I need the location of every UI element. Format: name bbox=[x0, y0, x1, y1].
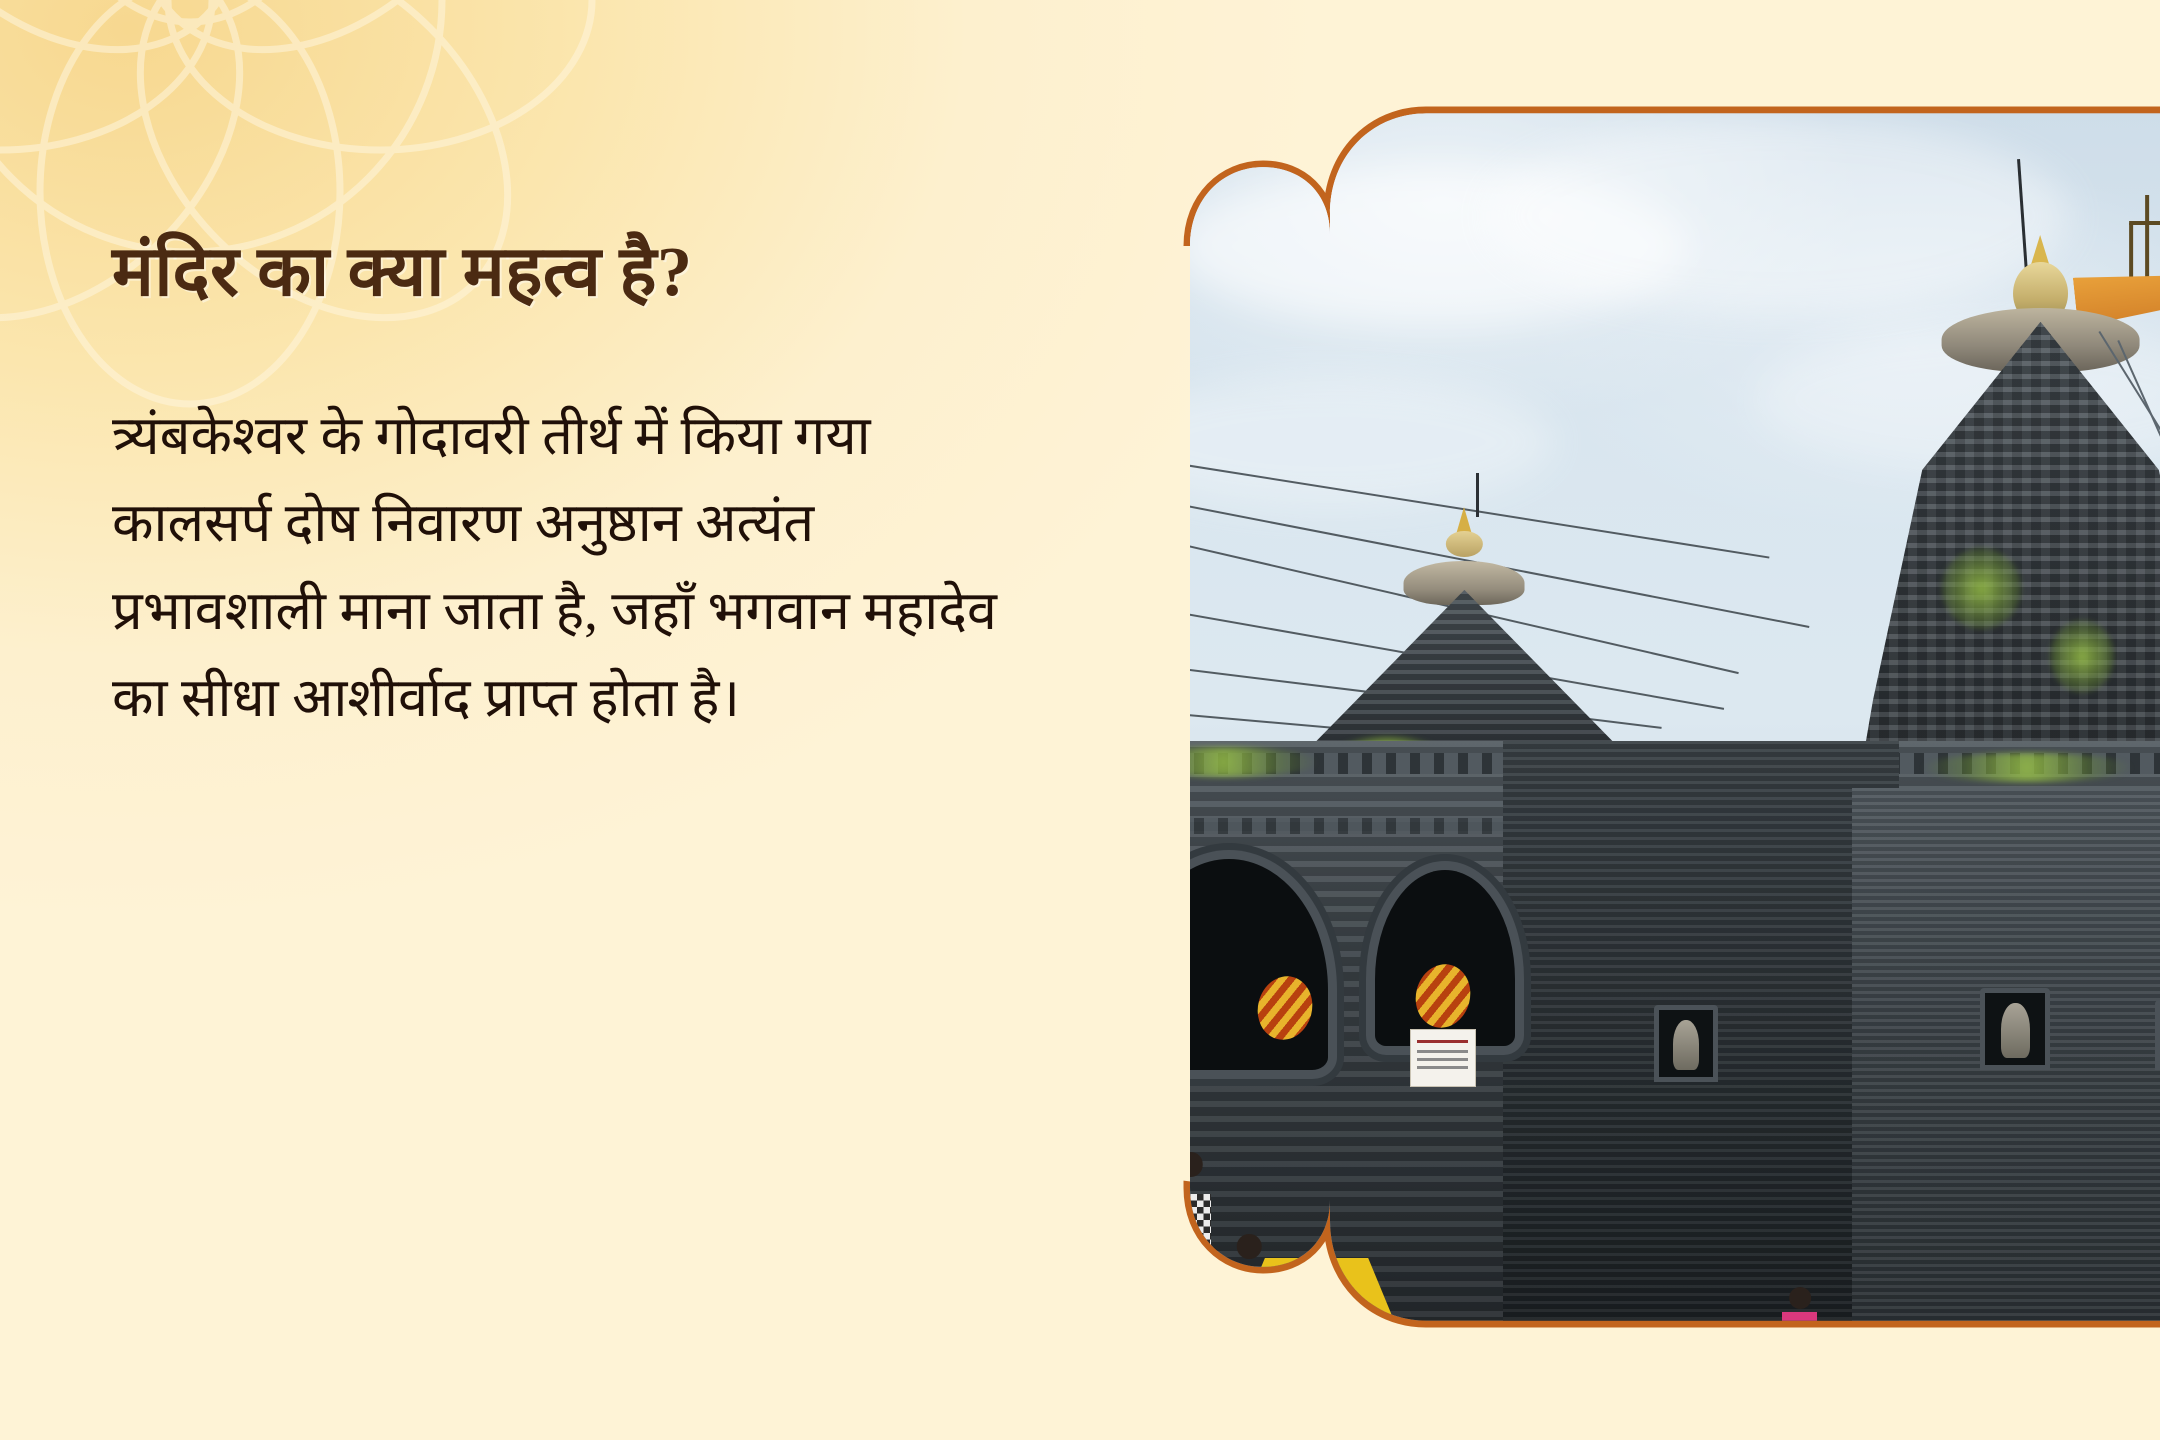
dome-kalash bbox=[1446, 531, 1482, 557]
carved-niche bbox=[2155, 1000, 2160, 1070]
dome-pole bbox=[1476, 473, 1479, 517]
notice-board bbox=[1410, 1029, 1476, 1087]
text-content-column: मंदिर का क्या महत्व है? त्र्यंबकेश्वर के… bbox=[112, 232, 1042, 742]
body-paragraph: त्र्यंबकेश्वर के गोदावरी तीर्थ में किया … bbox=[112, 393, 1022, 743]
temple-scene bbox=[1106, 106, 2160, 1328]
carved-niche bbox=[1980, 988, 2050, 1070]
temple-photograph bbox=[1106, 106, 2160, 1328]
mandapa-structure bbox=[1106, 741, 2160, 1328]
temple-photo-frame bbox=[1106, 106, 2160, 1328]
carved-niche bbox=[1654, 1005, 1718, 1081]
page-title: मंदिर का क्या महत्व है? bbox=[112, 232, 1042, 315]
